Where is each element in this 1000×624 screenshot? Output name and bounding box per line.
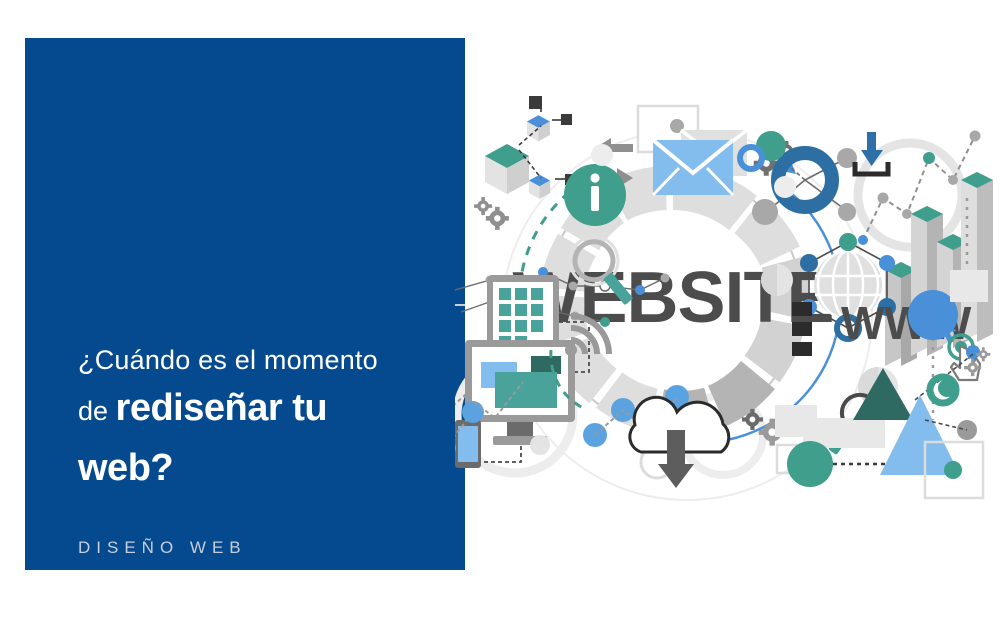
- cube-icon: [485, 144, 529, 194]
- node-dot: [879, 255, 895, 271]
- node-dot: [752, 199, 778, 225]
- website-illustration: WEBSITE: [455, 90, 1000, 510]
- decor-dot: [530, 435, 550, 455]
- page-title: ¿Cuándo es el momento de rediseñar tu we…: [78, 338, 448, 494]
- headline-line-1: ¿Cuándo es el momento: [78, 338, 448, 382]
- node-dot: [787, 441, 833, 487]
- decor-square: [792, 342, 812, 356]
- node-dot: [839, 233, 857, 251]
- decor-square: [950, 270, 988, 302]
- decor-dot: [774, 176, 796, 198]
- cube-icon: [527, 115, 550, 141]
- monitor-icon: [465, 340, 575, 445]
- node-square: [529, 96, 542, 109]
- node-dot: [800, 254, 818, 272]
- decor-square: [792, 322, 812, 336]
- node-square: [561, 114, 572, 125]
- info-icon: [564, 164, 626, 226]
- headline-line-2-light: de: [78, 396, 116, 426]
- gear-icon: [474, 197, 492, 215]
- blue-panel: ¿Cuándo es el momento de rediseñar tu we…: [25, 38, 465, 570]
- headline-line-2-bold: rediseñar tu: [116, 387, 328, 429]
- gear-icon: [486, 207, 509, 230]
- node-dot: [838, 203, 856, 221]
- node-dot: [966, 345, 980, 359]
- headline-line-3: web?: [78, 442, 448, 494]
- headline-line-2: de rediseñar tu: [78, 382, 448, 442]
- phone-icon: [455, 420, 481, 468]
- envelope-blue-icon: [653, 140, 733, 195]
- network-hub-icon: [740, 131, 857, 225]
- node-dot: [944, 461, 962, 479]
- decor-dot: [591, 144, 613, 166]
- decor-square: [792, 302, 812, 316]
- banner-canvas: ¿Cuándo es el momento de rediseñar tu we…: [0, 0, 1000, 624]
- category-kicker: DISEÑO WEB: [78, 538, 247, 558]
- decor-dot: [761, 264, 793, 296]
